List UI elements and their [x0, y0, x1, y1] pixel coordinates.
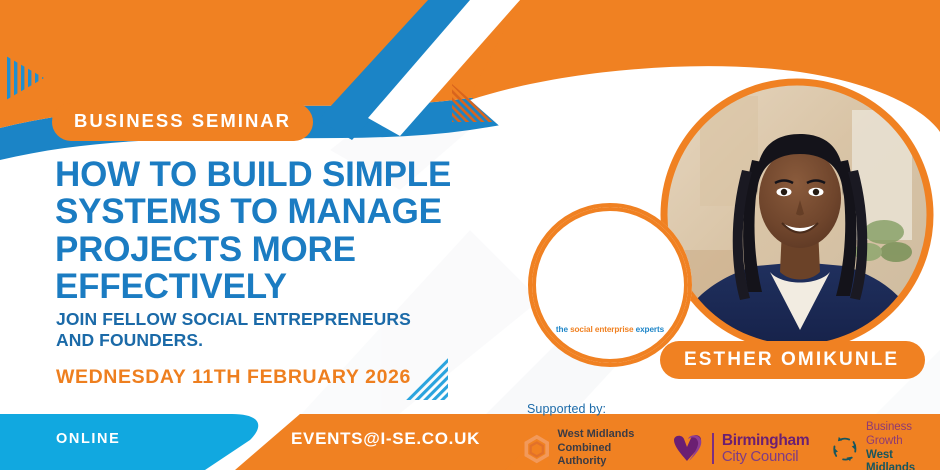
ise-logo: the social enterprise experts	[532, 207, 688, 363]
hexagon-ring-icon	[522, 432, 552, 466]
ise-tagline-part1: the	[556, 325, 570, 334]
sponsor-logo-bcc-text: Birmingham City Council	[722, 433, 809, 465]
supported-by-label: Supported by:	[527, 402, 606, 416]
arrow-circle-icon	[831, 433, 859, 465]
event-location: ONLINE	[56, 431, 120, 447]
sponsor-logo-bcc-line1: Birmingham	[722, 433, 809, 449]
sponsor-logo-bgwm-text: Business Growth West Midlands	[866, 421, 940, 470]
page-title: HOW TO BUILD SIMPLE SYSTEMS TO MANAGE PR…	[55, 156, 525, 306]
event-date: WEDNESDAY 11TH FEBRUARY 2026	[56, 366, 411, 389]
sponsor-logo-bgwm: Business Growth West Midlands	[831, 421, 940, 470]
contact-email[interactable]: EVENTS@I-SE.CO.UK	[291, 429, 480, 449]
speaker-name-badge: ESTHER OMIKUNLE	[660, 341, 925, 379]
sponsor-logo-row: West Midlands Combined Authority Birming…	[522, 421, 940, 470]
ise-tagline: the social enterprise experts	[536, 325, 684, 334]
speaker-name-label: ESTHER OMIKUNLE	[684, 349, 899, 371]
double-heart-icon	[671, 434, 709, 464]
seminar-type-badge: BUSINESS SEMINAR	[52, 103, 313, 141]
sponsor-logo-bgwm-line1: Business Growth	[866, 421, 940, 449]
subheadline: JOIN FELLOW SOCIAL ENTREPRENEURS AND FOU…	[56, 309, 456, 352]
ise-tagline-part3: experts	[636, 325, 664, 334]
sponsor-logo-bcc: Birmingham City Council	[671, 433, 809, 465]
sponsor-logo-bcc-line2: City Council	[722, 449, 809, 464]
event-banner: se	[0, 0, 940, 470]
sponsor-logo-wmca: West Midlands Combined Authority	[522, 428, 649, 468]
sponsor-logo-wmca-text: West Midlands Combined Authority	[558, 428, 649, 468]
divider	[712, 433, 714, 464]
sponsor-logo-bgwm-line2: West Midlands	[866, 449, 940, 470]
ise-tagline-part2: social enterprise	[570, 325, 636, 334]
